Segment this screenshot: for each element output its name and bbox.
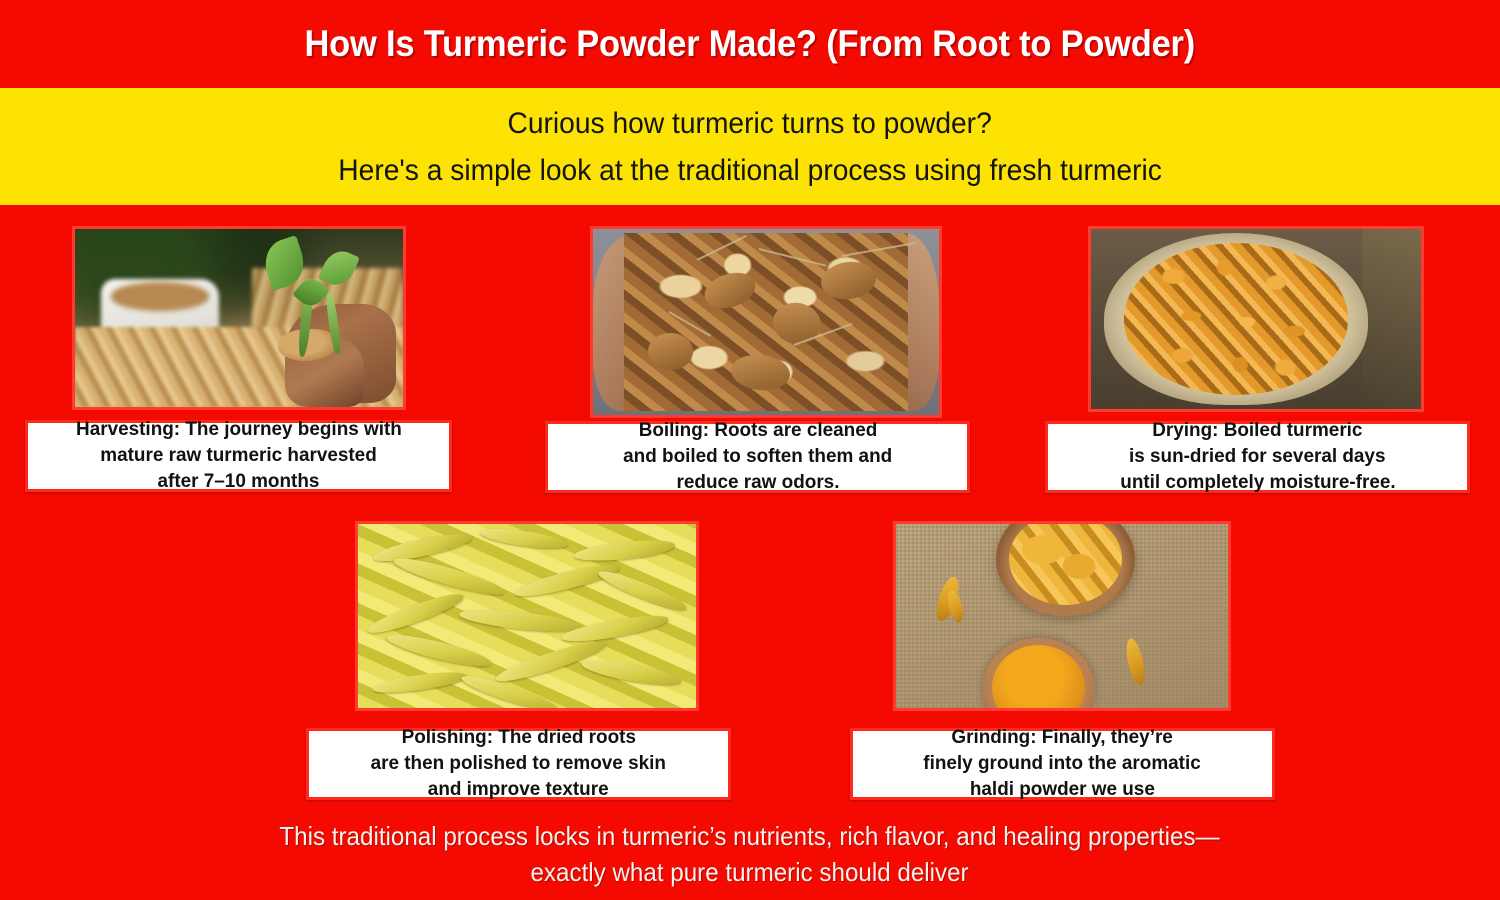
grinding-photo-art [896,524,1228,708]
caption-line: Polishing: The dried roots [401,725,635,751]
caption-line: haldi powder we use [970,777,1155,803]
subtitle-line-1: Curious how turmeric turns to powder? [508,101,992,148]
step-drying-photo [1088,226,1424,412]
steps-area: Harvesting: The journey begins with matu… [0,205,1500,900]
step-grinding-caption: Grinding: Finally, they’re finely ground… [850,728,1275,800]
step-harvesting-caption: Harvesting: The journey begins with matu… [25,420,452,492]
step-harvesting-photo [72,226,406,410]
header-band: How Is Turmeric Powder Made? (From Root … [0,0,1500,88]
step-drying-caption: Drying: Boiled turmeric is sun-dried for… [1045,421,1470,493]
step-boiling-photo [590,226,942,418]
boiling-photo-art [593,229,939,415]
caption-line: until completely moisture-free. [1120,470,1395,496]
harvesting-photo-art [75,229,403,407]
subtitle-band: Curious how turmeric turns to powder? He… [0,88,1500,205]
caption-line: is sun-dried for several days [1129,444,1386,470]
step-polishing-caption: Polishing: The dried roots are then poli… [306,728,731,800]
page-title: How Is Turmeric Powder Made? (From Root … [305,23,1196,65]
caption-line: reduce raw odors. [676,470,839,496]
drying-photo-art [1091,229,1421,409]
step-boiling-caption: Boiling: Roots are cleaned and boiled to… [545,421,970,493]
step-grinding-photo [893,521,1231,711]
polishing-photo-art [358,524,696,708]
caption-line: and boiled to soften them and [623,444,892,470]
caption-line: Boiling: Roots are cleaned [638,418,877,444]
caption-line: Drying: Boiled turmeric [1152,418,1362,444]
caption-line: and improve texture [428,777,609,803]
footer-line-1: This traditional process locks in turmer… [280,819,1220,855]
caption-line: after 7–10 months [158,469,320,495]
subtitle-line-2: Here's a simple look at the traditional … [338,148,1162,195]
caption-line: mature raw turmeric harvested [100,443,376,469]
footer-line-2: exactly what pure turmeric should delive… [531,855,969,891]
step-polishing-photo [355,521,699,711]
caption-line: finely ground into the aromatic [924,751,1201,777]
caption-line: are then polished to remove skin [371,751,666,777]
caption-line: Harvesting: The journey begins with [76,417,402,443]
caption-line: Grinding: Finally, they’re [952,725,1173,751]
footer-note: This traditional process locks in turmer… [0,815,1500,900]
